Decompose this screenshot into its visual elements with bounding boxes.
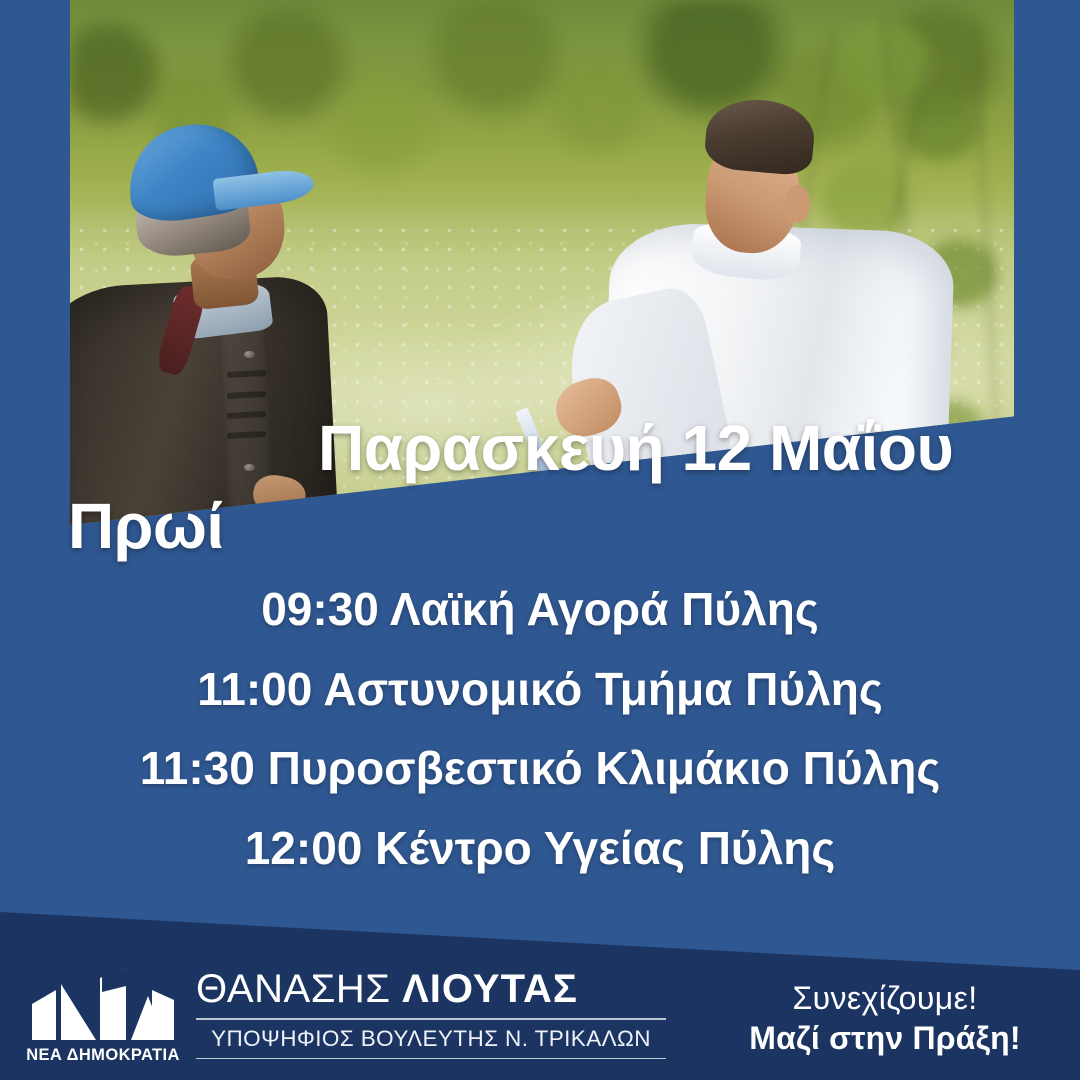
- candidate-role: ΥΠΟΨΗΦΙΟΣ ΒΟΥΛΕΥΤΗΣ Ν. ΤΡΙΚΑΛΩΝ: [196, 1026, 666, 1052]
- party-name: ΝΕΑ ΔΗΜΟΚΡΑΤΙΑ: [18, 1046, 188, 1065]
- candidate-first-name: ΘΑΝΑΣΗΣ: [196, 967, 390, 1011]
- candidate-hair: [703, 95, 816, 176]
- part-of-day-heading: Πρωί: [68, 489, 224, 563]
- schedule-item: 09:30 Λαϊκή Αγορά Πύλης: [261, 585, 819, 635]
- schedule-item: 11:00 Αστυνομικό Τμήμα Πύλης: [197, 665, 883, 715]
- candidate-ear: [785, 185, 810, 223]
- campaign-slogan: Συνεχίζουμε! Μαζί στην Πράξη!: [720, 978, 1050, 1058]
- party-logo-block: ΝΕΑ ΔΗΜΟΚΡΑΤΙΑ: [18, 966, 188, 1076]
- name-divider-top: [196, 1018, 666, 1020]
- schedule-item: 12:00 Κέντρο Υγείας Πύλης: [245, 824, 836, 874]
- campaign-poster: Παρασκευή 12 Μαΐου Πρωί 09:30 Λαϊκή Αγορ…: [0, 0, 1080, 1080]
- footer-band: ΝΕΑ ΔΗΜΟΚΡΑΤΙΑ ΘΑΝΑΣΗΣ ΛΙΟΥΤΑΣ ΥΠΟΨΗΦΙΟΣ…: [0, 900, 1080, 1080]
- candidate-last-name: ΛΙΟΥΤΑΣ: [402, 967, 578, 1011]
- candidate-full-name: ΘΑΝΑΣΗΣ ΛΙΟΥΤΑΣ: [196, 968, 666, 1010]
- date-heading: Παρασκευή 12 Μαΐου: [318, 411, 953, 485]
- name-divider-bottom: [196, 1058, 666, 1060]
- slogan-line-1: Συνεχίζουμε!: [720, 978, 1050, 1018]
- schedule-item: 11:30 Πυροσβεστικό Κλιμάκιο Πύλης: [140, 744, 941, 794]
- nea-dimokratia-logo-icon: [30, 966, 176, 1044]
- slogan-line-2: Μαζί στην Πράξη!: [720, 1018, 1050, 1058]
- candidate-name-block: ΘΑΝΑΣΗΣ ΛΙΟΥΤΑΣ ΥΠΟΨΗΦΙΟΣ ΒΟΥΛΕΥΤΗΣ Ν. Τ…: [196, 968, 666, 1059]
- schedule-list: 09:30 Λαϊκή Αγορά Πύλης 11:00 Αστυνομικό…: [0, 585, 1080, 874]
